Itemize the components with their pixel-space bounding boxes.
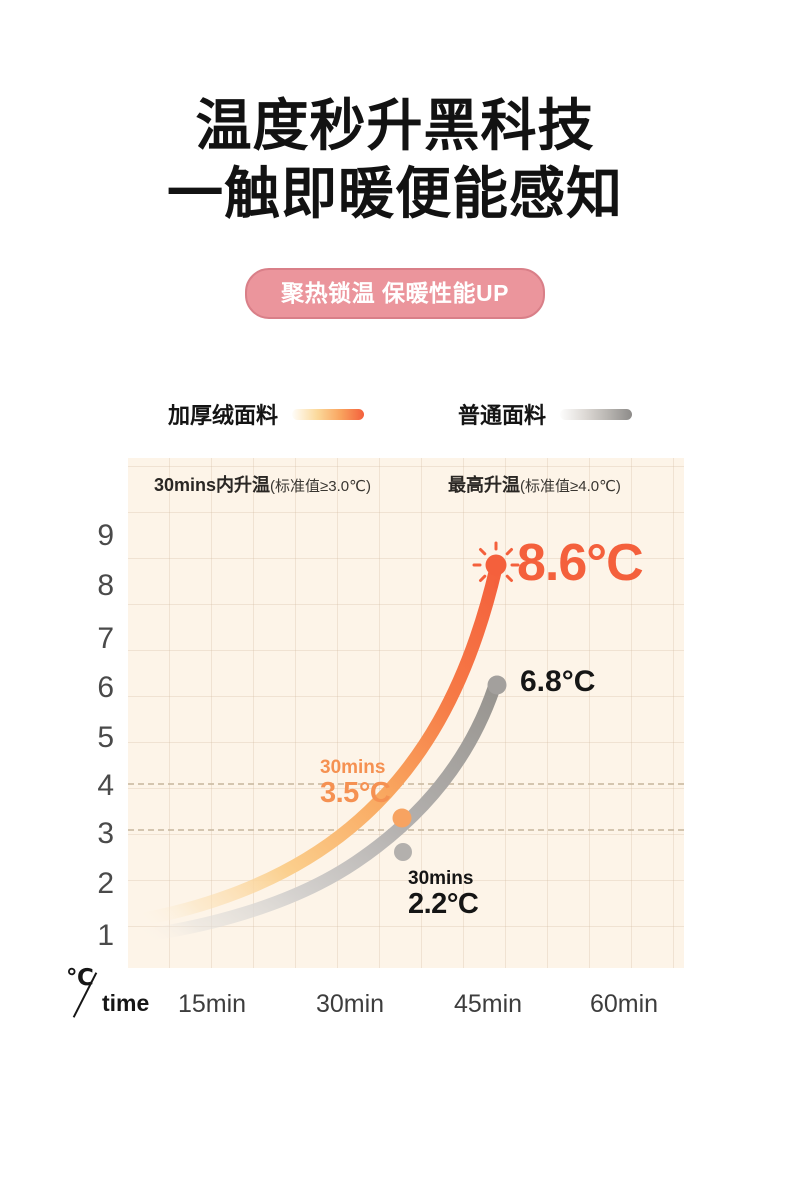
marker-gray-30min (394, 843, 412, 861)
label-orange-30min-top: 30mins (320, 758, 390, 778)
y-tick-6: 6 (97, 671, 114, 705)
marker-orange-30min (393, 809, 412, 828)
y-tick-4: 4 (97, 769, 114, 803)
label-gray-30min: 30mins 2.2°C (408, 869, 478, 920)
legend-swatch-orange (292, 409, 364, 420)
x-tick-30min: 30min (316, 990, 384, 1019)
label-orange-30min-value: 3.5°C (320, 778, 390, 809)
legend-swatch-gray (560, 409, 632, 420)
legend-label: 普通面料 (458, 398, 546, 430)
x-tick-60min: 60min (590, 990, 658, 1019)
label-orange-30min: 30mins 3.5°C (320, 758, 390, 809)
legend-label: 加厚绒面料 (168, 398, 278, 430)
y-tick-1: 1 (97, 919, 114, 953)
sun-icon (474, 543, 518, 587)
y-tick-9: 9 (97, 519, 114, 553)
y-tick-5: 5 (97, 721, 114, 755)
label-gray-30min-top: 30mins (408, 869, 478, 889)
y-tick-8: 8 (97, 569, 114, 603)
y-tick-7: 7 (97, 622, 114, 656)
headline-line-2: 一触即暖便能感知 (0, 160, 790, 228)
y-axis: 9 8 7 6 5 4 3 2 1 (60, 458, 122, 968)
y-tick-2: 2 (97, 867, 114, 901)
label-peak-gray: 6.8°C (520, 666, 595, 698)
headline-line-1: 温度秒升黑科技 (0, 92, 790, 160)
status-badge: 聚热锁温 保暖性能UP (245, 268, 545, 319)
x-tick-45min: 45min (454, 990, 522, 1019)
x-tick-15min: 15min (178, 990, 246, 1019)
page-title: 温度秒升黑科技 一触即暖便能感知 (0, 92, 790, 228)
legend-item-thick-fleece: 加厚绒面料 (168, 398, 364, 430)
y-tick-3: 3 (97, 817, 114, 851)
label-peak-orange: 8.6°C (517, 536, 643, 591)
x-axis: 15min 30min 45min 60min (128, 990, 728, 1024)
chart-legend: 加厚绒面料 普通面料 (128, 398, 684, 434)
marker-gray-peak (488, 676, 507, 695)
chart-plot-area: 30mins内升温(标准值≥3.0℃) 最高升温(标准值≥4.0℃) (128, 458, 684, 968)
legend-item-normal-fabric: 普通面料 (458, 398, 632, 430)
label-gray-30min-value: 2.2°C (408, 889, 478, 920)
badge-container: 聚热锁温 保暖性能UP (0, 268, 790, 319)
